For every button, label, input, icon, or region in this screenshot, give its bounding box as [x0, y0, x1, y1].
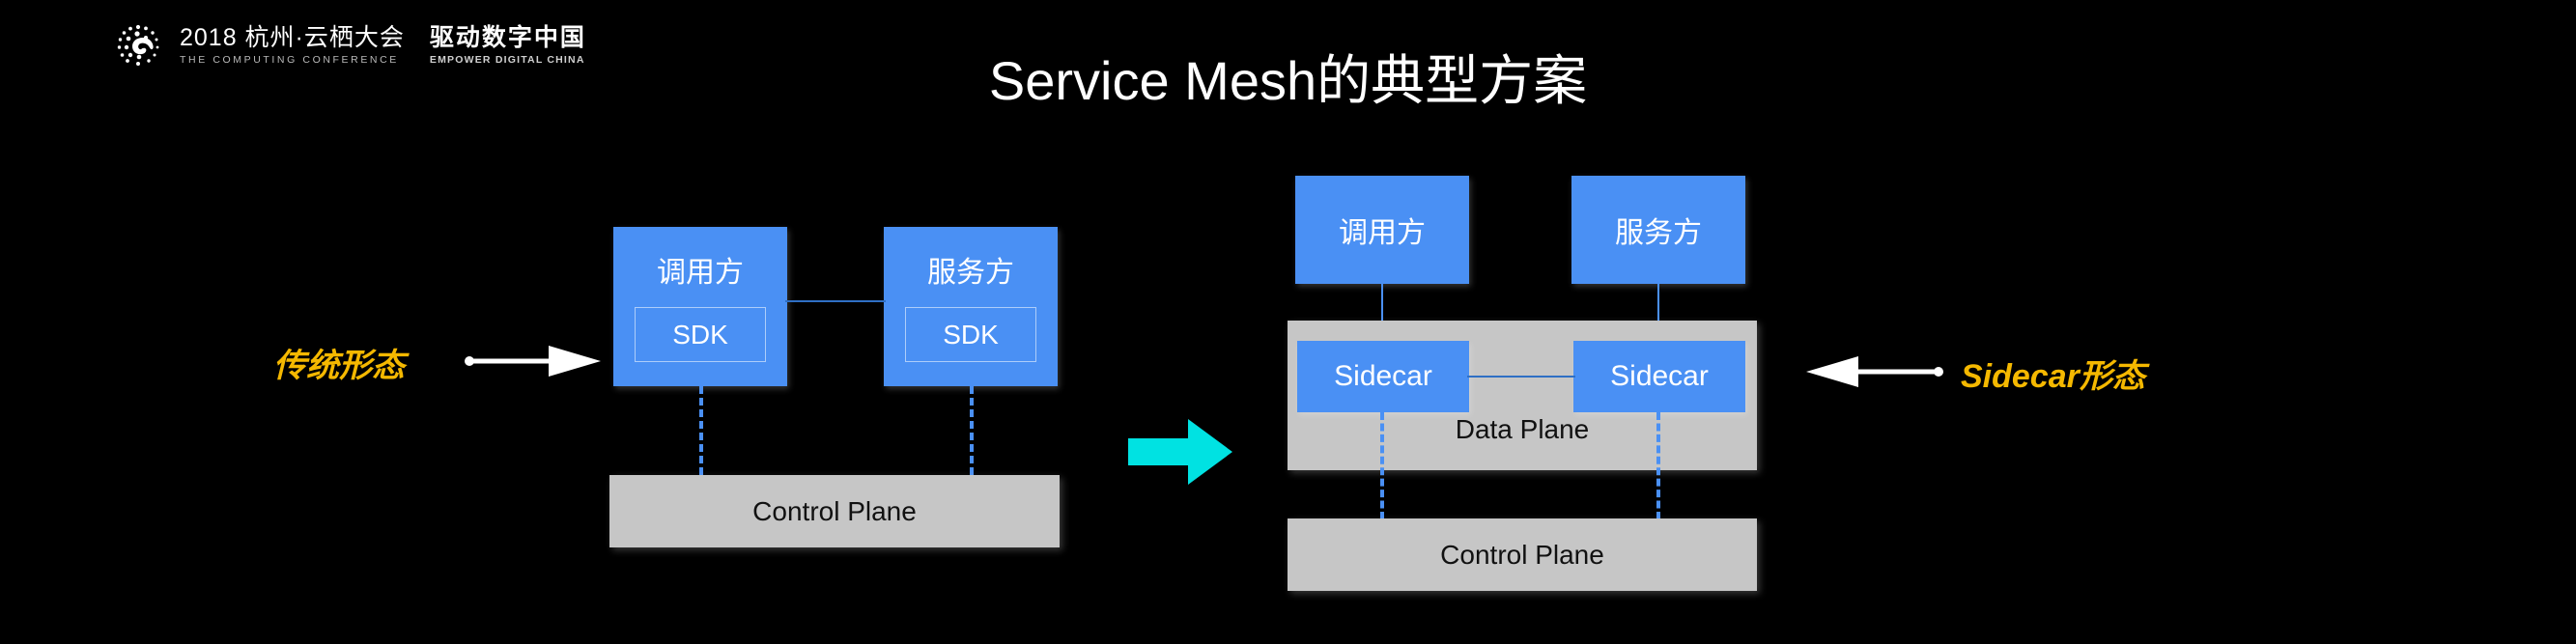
left-node-connector	[785, 300, 886, 302]
slide-canvas: 2018 杭州·云栖大会 THE COMPUTING CONFERENCE 驱动…	[0, 0, 2576, 644]
right-sidecar-provider-label: Sidecar	[1610, 360, 1709, 393]
page-title: Service Mesh的典型方案	[0, 50, 2576, 112]
left-node-caller: 调用方 SDK	[613, 227, 787, 386]
right-sidecar-caller: Sidecar	[1297, 341, 1469, 412]
right-sidecar-connector	[1467, 376, 1575, 378]
left-node-provider: 服务方 SDK	[884, 227, 1058, 386]
left-control-plane: Control Plane	[609, 475, 1060, 547]
right-dash-caller-to-control	[1380, 412, 1384, 519]
left-sdk-box-caller: SDK	[635, 307, 766, 362]
block-arrow-right-icon	[1128, 417, 1234, 487]
right-node-provider-label: 服务方	[1615, 209, 1702, 251]
left-control-plane-label: Control Plane	[609, 496, 1060, 527]
left-callout-label: 传统形态	[273, 339, 405, 386]
logo-secondary-cn: 驱动数字中国	[430, 23, 586, 52]
right-data-plane-label: Data Plane	[1288, 414, 1757, 445]
left-dash-caller-to-control	[699, 386, 703, 475]
right-sidecar-caller-label: Sidecar	[1334, 360, 1432, 393]
arrow-left-icon	[1804, 353, 1944, 390]
arrow-right-icon	[464, 343, 604, 379]
left-sdk-box-provider: SDK	[905, 307, 1036, 362]
right-control-plane: Control Plane	[1288, 518, 1757, 591]
left-dash-provider-to-control	[970, 386, 974, 475]
left-node-provider-label: 服务方	[884, 248, 1058, 291]
right-control-plane-label: Control Plane	[1288, 540, 1757, 571]
right-dash-provider-to-control	[1656, 412, 1660, 519]
right-node-provider: 服务方	[1571, 176, 1745, 284]
right-node-caller-label: 调用方	[1339, 209, 1426, 251]
left-node-caller-label: 调用方	[613, 248, 787, 291]
right-sidecar-provider: Sidecar	[1573, 341, 1745, 412]
logo-primary-cn: 2018 杭州·云栖大会	[180, 23, 405, 52]
left-sdk-label-provider: SDK	[943, 320, 999, 350]
right-node-caller: 调用方	[1295, 176, 1469, 284]
right-callout-label: Sidecar形态	[1961, 350, 2145, 397]
left-sdk-label-caller: SDK	[672, 320, 728, 350]
